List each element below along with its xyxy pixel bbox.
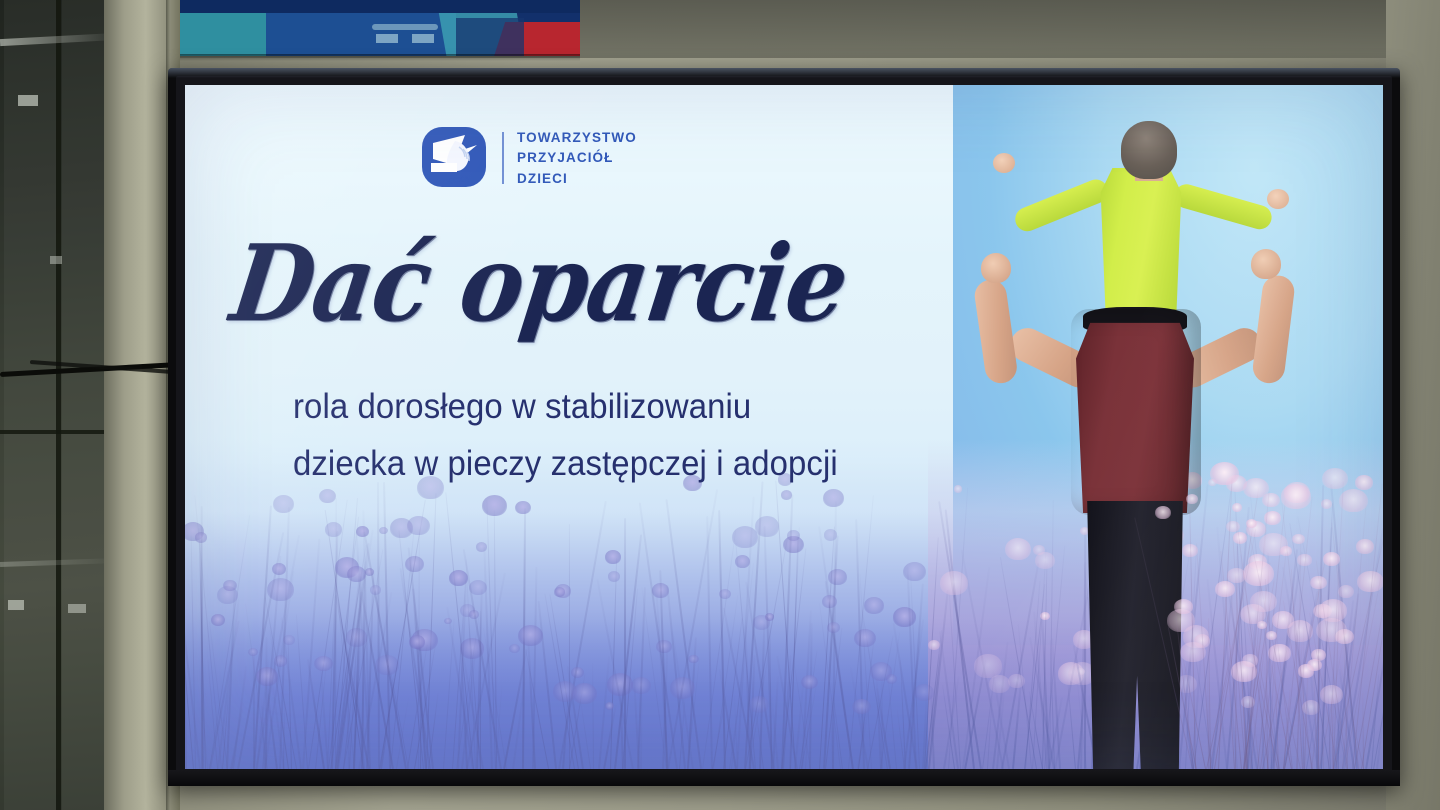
meadow-bloom — [223, 580, 236, 591]
right-flower-bloom — [1155, 506, 1171, 519]
meadow-bloom — [608, 571, 621, 582]
meadow-bloom — [735, 555, 750, 568]
logo-line-2: PRZYJACIÓŁ — [517, 149, 637, 166]
child-right-hand — [1267, 189, 1289, 209]
organization-logo: DZIECKA TOWARZYSTWO PRZYJACIÓŁ DZIECI — [419, 125, 637, 191]
meadow-bloom — [515, 501, 531, 514]
right-flower-bloom — [1272, 611, 1294, 629]
meadow-bloom — [605, 550, 621, 564]
presentation-slide: DZIECKA TOWARZYSTWO PRZYJACIÓŁ DZIECI Da… — [185, 85, 1383, 769]
meadow-bloom — [903, 562, 926, 581]
meadow-bloom — [370, 585, 381, 594]
meadow-bloom — [347, 566, 366, 582]
right-flower-bloom — [1322, 468, 1348, 489]
right-flower-bloom — [1186, 494, 1198, 504]
glass-wall — [0, 0, 118, 810]
child-left-hand — [993, 153, 1015, 173]
tpd-emblem-icon: DZIECKA — [419, 125, 489, 191]
right-flower-bloom — [1243, 478, 1268, 498]
right-flower-stem — [1363, 693, 1365, 769]
logo-text-block: TOWARZYSTWO PRZYJACIÓŁ DZIECI — [517, 129, 637, 187]
right-flower-bloom — [1259, 533, 1288, 556]
right-flower-bloom — [1281, 484, 1312, 509]
logo-divider — [502, 132, 504, 184]
display-bottom-bezel — [168, 770, 1400, 786]
adult-left-fist — [981, 253, 1011, 283]
child-torso — [1099, 165, 1183, 317]
adult-right-forearm — [1251, 274, 1296, 385]
right-flower-stem — [1189, 496, 1196, 769]
right-flower-bloom — [1323, 552, 1341, 566]
display-top-glint — [168, 68, 1400, 78]
slide-title: Dać oparcie — [226, 231, 854, 336]
right-flower-bloom — [1250, 591, 1277, 612]
wall-poster — [180, 0, 580, 56]
adult-right-fist — [1251, 249, 1281, 279]
poster-shadow — [180, 54, 580, 61]
meadow-bloom — [325, 522, 343, 537]
logo-line-3: DZIECI — [517, 170, 637, 187]
adult-torso-shading — [1071, 309, 1201, 515]
right-flower-bloom — [1292, 534, 1305, 544]
meadow-bloom — [379, 527, 388, 535]
meadow-bloom — [719, 589, 731, 599]
room-scene: DZIECKA TOWARZYSTWO PRZYJACIÓŁ DZIECI Da… — [0, 0, 1440, 810]
meadow-bloom — [824, 529, 837, 540]
display-screen[interactable]: DZIECKA TOWARZYSTWO PRZYJACIÓŁ DZIECI Da… — [185, 85, 1383, 769]
adult-legs — [1083, 501, 1187, 769]
right-flower-bloom — [1215, 581, 1235, 597]
meadow-bloom — [407, 516, 430, 535]
right-flower-bloom — [1339, 489, 1368, 512]
child-head — [1121, 121, 1177, 179]
meadow-bloom — [864, 597, 884, 614]
meadow-bloom — [273, 495, 294, 513]
right-flower-bloom — [1356, 539, 1374, 554]
child-left-arm — [1012, 176, 1112, 235]
meadow-bloom — [449, 570, 468, 586]
meadow-bloom — [554, 587, 565, 596]
adult-left-forearm — [973, 278, 1019, 385]
slide-subtitle: rola dorosłego w stabilizowaniu dziecka … — [293, 379, 838, 492]
meadow-bloom — [755, 516, 779, 536]
right-flower-bloom — [1246, 519, 1257, 528]
right-flower-bloom — [1210, 462, 1239, 485]
logo-line-1: TOWARZYSTWO — [517, 129, 637, 146]
child-right-arm — [1172, 181, 1275, 232]
right-flower-bloom — [1355, 475, 1374, 490]
right-flower-bloom — [1174, 599, 1193, 614]
right-flower-cluster — [1191, 439, 1371, 769]
